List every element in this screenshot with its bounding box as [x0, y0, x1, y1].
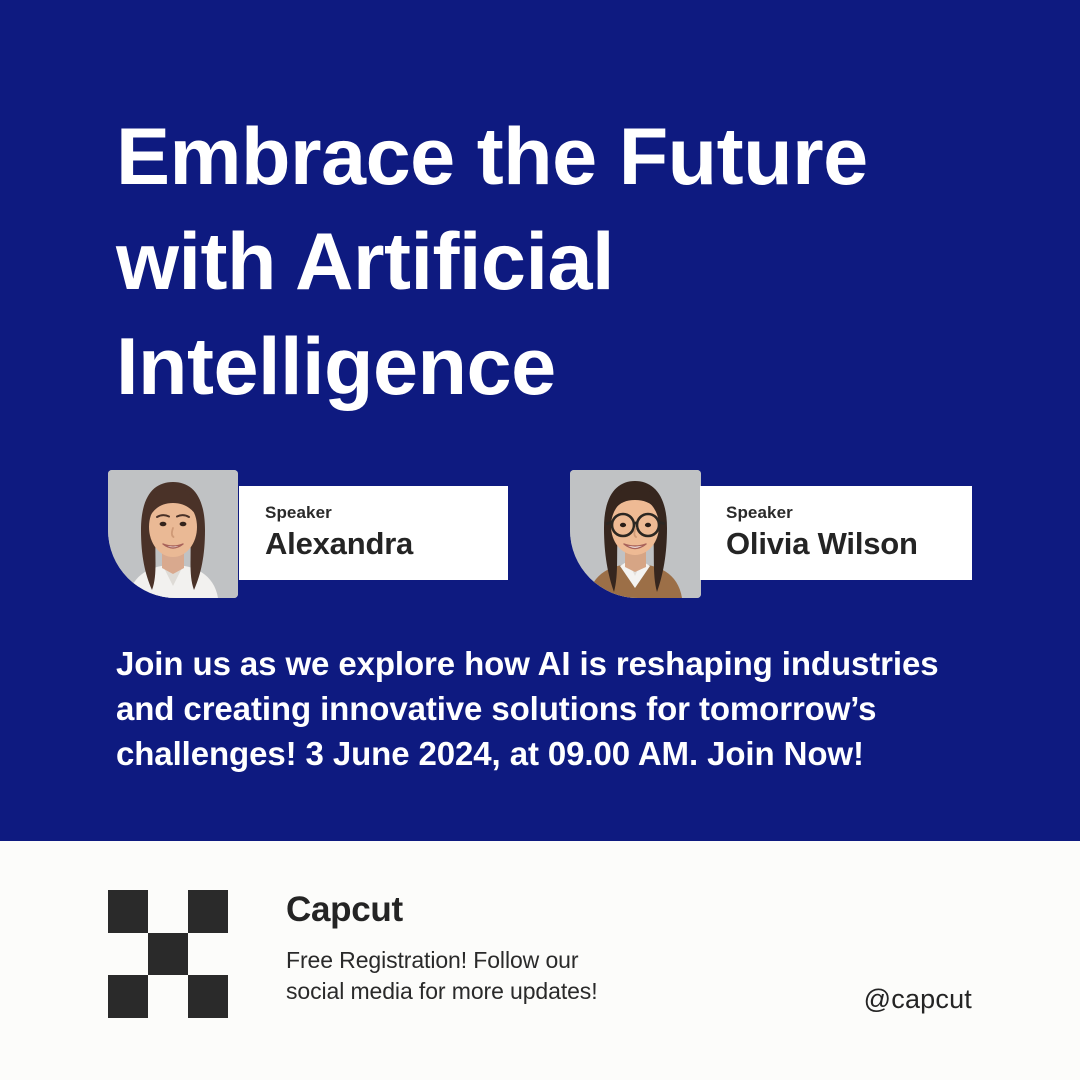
page-title: Embrace the Future with Artificial Intel…	[116, 105, 1016, 420]
event-poster: Embrace the Future with Artificial Intel…	[0, 0, 1080, 1080]
speaker-list: Speaker Alexandra	[0, 470, 1080, 605]
event-description: Join us as we explore how AI is reshapin…	[116, 641, 996, 776]
speaker-card-olivia-wilson[interactable]: Speaker Olivia Wilson	[570, 470, 972, 598]
footer-bar: Capcut Free Registration! Follow our soc…	[0, 841, 1080, 1080]
brand-name: Capcut	[286, 889, 756, 931]
speaker-role-label: Speaker	[265, 503, 508, 523]
speaker-card-alexandra[interactable]: Speaker Alexandra	[108, 470, 508, 598]
brand-block: Capcut Free Registration! Follow our soc…	[286, 889, 756, 1007]
speaker-name: Olivia Wilson	[726, 525, 972, 563]
speaker-namebox: Speaker Alexandra	[239, 486, 508, 580]
speaker-namebox: Speaker Olivia Wilson	[700, 486, 972, 580]
social-handle[interactable]: @capcut	[864, 983, 972, 1015]
speaker-role-label: Speaker	[726, 503, 972, 523]
hero-panel: Embrace the Future with Artificial Intel…	[0, 0, 1080, 841]
avatar	[108, 470, 238, 598]
brand-tagline: Free Registration! Follow our social med…	[286, 945, 756, 1007]
avatar	[570, 470, 701, 598]
speaker-name: Alexandra	[265, 525, 508, 563]
checkerboard-x-logo-icon	[108, 890, 228, 1018]
